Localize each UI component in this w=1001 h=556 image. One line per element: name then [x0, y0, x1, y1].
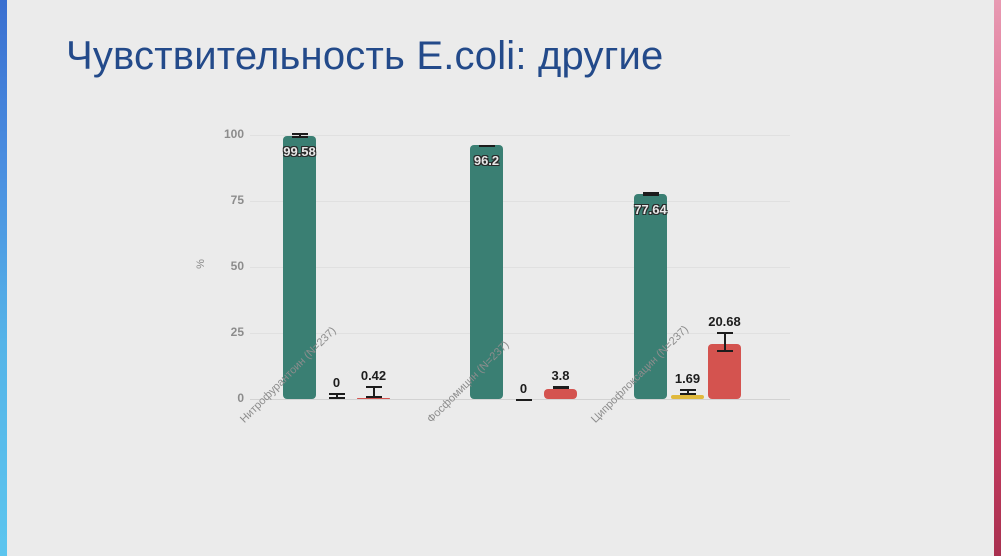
bar-value-label: 20.68 [694, 314, 755, 329]
bar-value-label: 3.8 [530, 368, 591, 383]
error-bar [357, 386, 390, 398]
gridline [250, 201, 790, 202]
error-bar [544, 386, 577, 389]
bar-R-1 [544, 389, 577, 399]
error-bar [507, 399, 540, 401]
error-bar [708, 332, 741, 352]
bar-value-label: 96.2 [456, 153, 517, 168]
bar-value-label: 0.42 [343, 368, 404, 383]
error-bar [470, 145, 503, 147]
error-bar [671, 389, 704, 395]
gridline [250, 267, 790, 268]
error-bar [634, 192, 667, 196]
y-tick-label: 50 [200, 259, 244, 273]
y-tick-label: 75 [200, 193, 244, 207]
bar-value-label: 77.64 [620, 202, 681, 217]
y-tick-label: 0 [200, 391, 244, 405]
gridline [250, 135, 790, 136]
bar-chart: % 0255075100 99.5800.4296.203.877.641.69… [0, 0, 1001, 556]
y-tick-label: 100 [200, 127, 244, 141]
bar-R-2 [708, 344, 741, 399]
bar-value-label: 99.58 [269, 144, 330, 159]
error-bar [320, 393, 353, 399]
bar-R-0 [357, 398, 390, 399]
error-bar [283, 133, 316, 138]
bar-I-2 [671, 395, 704, 399]
y-tick-label: 25 [200, 325, 244, 339]
